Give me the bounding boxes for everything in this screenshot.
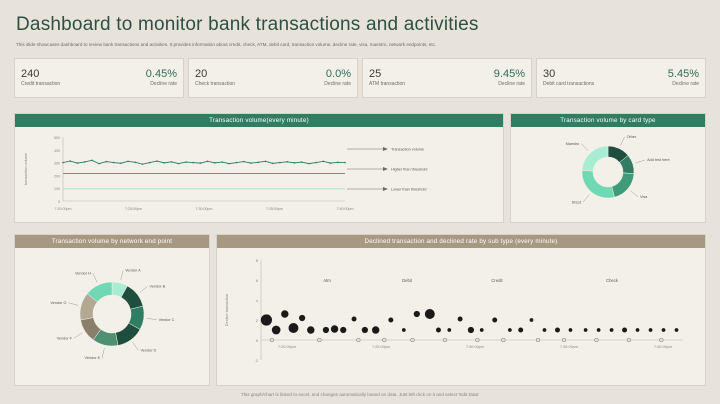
- footer-note: This graph/chart is linked to excel, and…: [0, 392, 720, 397]
- y-tick-label: 0: [256, 339, 258, 343]
- scatter-point: [622, 328, 627, 333]
- kpi-atm-value: 25: [369, 68, 453, 81]
- data-point: [207, 161, 209, 163]
- y-tick-label: 200: [54, 174, 60, 178]
- panel-card-type-title: Transaction volume by card type: [511, 114, 705, 127]
- scatter-point: [340, 327, 346, 333]
- legend-label: Higher than threshold: [391, 168, 427, 172]
- donut-leader-line: [581, 144, 588, 151]
- data-point: [178, 163, 180, 165]
- kpi-credit-pct: 0.45%: [105, 68, 177, 81]
- data-point: [120, 162, 122, 164]
- data-point: [301, 161, 303, 163]
- data-point: [272, 163, 274, 165]
- donut-leader-line: [74, 333, 82, 338]
- x-tick-label: 7:30:00pm: [466, 345, 484, 349]
- scatter-point: [584, 328, 588, 332]
- data-point: [214, 162, 216, 164]
- data-point: [243, 161, 245, 163]
- data-point: [62, 162, 64, 164]
- data-point: [135, 162, 137, 164]
- scatter-point: [468, 327, 474, 333]
- panel-volume-by-network-end-point: Transaction volume by network end point …: [14, 234, 210, 386]
- data-point: [149, 162, 151, 164]
- donut-slice[interactable]: [582, 146, 608, 171]
- scatter-point: [543, 328, 547, 332]
- y-axis-title: Decline transaction: [225, 294, 229, 326]
- declined-transactions-scatter-chart: 86420-2Decline transaction7:20:00pm7:25:…: [217, 248, 705, 385]
- kpi-debit-left: 30 Debit card transactions: [543, 68, 627, 88]
- panel-declined-title: Declined transaction and declined rate b…: [217, 235, 705, 248]
- data-point: [294, 162, 296, 164]
- scatter-point: [299, 315, 305, 321]
- kpi-card-atm[interactable]: 25 ATM transaction 9.45% Decline rate: [362, 58, 532, 98]
- scatter-point: [649, 328, 653, 332]
- donut-leader-line: [583, 194, 589, 202]
- kpi-atm-pct-label: Decline rate: [453, 81, 525, 88]
- scatter-point: [675, 328, 679, 332]
- donut-leader-line: [68, 303, 78, 305]
- y-tick-label: 8: [256, 259, 258, 263]
- data-point: [84, 161, 86, 163]
- panel-volume-by-card-type: Transaction volume by card type OtherAdd…: [510, 113, 706, 223]
- kpi-credit-label: Credit transaction: [21, 81, 105, 88]
- kpi-card-debit[interactable]: 30 Debit card transactions 5.45% Decline…: [536, 58, 706, 98]
- kpi-debit-pct-label: Decline rate: [627, 81, 699, 88]
- donut-leader-line: [620, 137, 624, 146]
- kpi-credit-right: 0.45% Decline rate: [105, 68, 177, 88]
- y-tick-label: 4: [256, 299, 258, 303]
- kpi-check-pct: 0.0%: [279, 68, 351, 81]
- donut-slice[interactable]: [582, 170, 614, 198]
- donut-label: Vendor C: [159, 318, 175, 322]
- data-point: [142, 163, 144, 165]
- kpi-atm-left: 25 ATM transaction: [369, 68, 453, 88]
- network-endpoint-donut-chart: Vendor AVendor BVendor CVendor DVendor E…: [15, 248, 209, 385]
- donut-label: Vendor A: [125, 269, 141, 273]
- donut-label: Vendor D: [140, 349, 156, 353]
- data-point: [91, 159, 93, 161]
- kpi-atm-label: ATM transaction: [369, 81, 453, 88]
- card-type-donut-chart: OtherAdd test hereVisaDiscdMaestro: [511, 127, 705, 222]
- donut-label: Vendor B: [150, 285, 166, 289]
- x-tick-label: 7:35:00pm: [266, 207, 283, 211]
- kpi-debit-value: 30: [543, 68, 627, 81]
- kpi-credit-pct-label: Decline rate: [105, 81, 177, 88]
- data-point: [200, 162, 202, 164]
- data-point: [257, 162, 259, 164]
- scatter-point: [480, 328, 484, 332]
- legend-arrow-icon: [383, 167, 388, 171]
- y-tick-label: 0: [58, 200, 60, 204]
- scatter-point: [372, 326, 379, 333]
- legend-arrow-icon: [383, 187, 388, 191]
- y-tick-label: 400: [54, 149, 60, 153]
- annotation-label: Atm: [323, 278, 331, 283]
- kpi-debit-pct: 5.45%: [627, 68, 699, 81]
- annotation-label: Debit: [402, 278, 413, 283]
- scatter-point: [447, 328, 451, 332]
- data-point: [185, 161, 187, 163]
- x-tick-label: 7:40:00pm: [654, 345, 672, 349]
- donut-leader-line: [140, 286, 148, 292]
- data-point: [279, 162, 281, 164]
- data-point: [344, 162, 346, 164]
- donut-label: Vendor F: [57, 336, 73, 340]
- panel-transaction-volume-title: Transaction volume(every minute): [15, 114, 503, 127]
- x-tick-label: 7:25:00pm: [372, 345, 390, 349]
- scatter-point: [323, 327, 329, 333]
- panel-transaction-volume: Transaction volume(every minute) 5004003…: [14, 113, 504, 223]
- y-tick-label: 300: [54, 162, 60, 166]
- scatter-point: [307, 326, 314, 333]
- donut-leader-line: [121, 270, 123, 280]
- data-point: [192, 162, 194, 164]
- x-tick-label: 7:20:00pm: [55, 207, 72, 211]
- scatter-point: [569, 328, 573, 332]
- scatter-point: [636, 328, 640, 332]
- kpi-card-check[interactable]: 20 Check transaction 0.0% Decline rate: [188, 58, 358, 98]
- page-subtitle: This slide showcases dashboard to review…: [16, 42, 676, 48]
- annotation-label: Check: [606, 278, 619, 283]
- line-series-0: [63, 160, 345, 164]
- donut-leader-line: [102, 348, 104, 358]
- donut-label: Vendor G: [50, 301, 66, 305]
- y-tick-label: 100: [54, 187, 60, 191]
- data-point: [337, 162, 339, 164]
- y-tick-label: 2: [256, 319, 258, 323]
- data-point: [250, 162, 252, 164]
- scatter-point: [272, 326, 281, 335]
- donut-leader-line: [93, 273, 97, 282]
- scatter-point: [610, 328, 614, 332]
- donut-leader-line: [636, 160, 646, 163]
- scatter-point: [425, 309, 435, 319]
- scatter-point: [555, 328, 560, 333]
- donut-leader-line: [147, 318, 157, 319]
- kpi-atm-right: 9.45% Decline rate: [453, 68, 525, 88]
- data-point: [106, 161, 108, 163]
- scatter-point: [261, 314, 272, 325]
- x-tick-label: 7:40:00pm: [337, 207, 354, 211]
- y-tick-label: 6: [256, 279, 258, 283]
- kpi-check-value: 20: [195, 68, 279, 81]
- scatter-point: [388, 318, 393, 323]
- data-point: [221, 161, 223, 163]
- scatter-point: [518, 328, 523, 333]
- scatter-point: [597, 328, 601, 332]
- legend-label: Lower than threshold: [391, 188, 426, 192]
- kpi-check-right: 0.0% Decline rate: [279, 68, 351, 88]
- y-tick-label: -2: [255, 359, 258, 363]
- kpi-debit-right: 5.45% Decline rate: [627, 68, 699, 88]
- scatter-point: [436, 328, 441, 333]
- kpi-card-credit[interactable]: 240 Credit transaction 0.45% Decline rat…: [14, 58, 184, 98]
- data-point: [330, 162, 332, 164]
- page-title: Dashboard to monitor bank transactions a…: [16, 14, 479, 36]
- data-point: [156, 160, 158, 162]
- data-point: [265, 161, 267, 163]
- data-point: [171, 161, 173, 163]
- legend-arrow-icon: [383, 147, 388, 151]
- scatter-point: [402, 328, 406, 332]
- scatter-point: [508, 328, 512, 332]
- x-tick-label: 7:20:00pm: [278, 345, 296, 349]
- data-point: [127, 161, 129, 163]
- scatter-point: [352, 317, 357, 322]
- kpi-credit-left: 240 Credit transaction: [21, 68, 105, 88]
- kpi-check-left: 20 Check transaction: [195, 68, 279, 88]
- scatter-point: [281, 310, 288, 317]
- kpi-atm-pct: 9.45%: [453, 68, 525, 81]
- data-point: [236, 162, 238, 164]
- x-tick-label: 7:25:00pm: [125, 207, 142, 211]
- donut-label: Add test here: [647, 158, 670, 162]
- data-point: [77, 162, 79, 164]
- scatter-point: [331, 325, 338, 332]
- donut-label: Other: [627, 135, 637, 139]
- donut-label: Discd: [572, 200, 582, 204]
- donut-label: Vendor E: [85, 356, 101, 360]
- data-point: [323, 161, 325, 163]
- data-point: [229, 163, 231, 165]
- panel-declined-transactions: Declined transaction and declined rate b…: [216, 234, 706, 386]
- data-point: [69, 160, 71, 162]
- dashboard-page: Dashboard to monitor bank transactions a…: [0, 0, 720, 404]
- scatter-point: [530, 318, 534, 322]
- kpi-credit-value: 240: [21, 68, 105, 81]
- kpi-check-label: Check transaction: [195, 81, 279, 88]
- kpi-debit-label: Debit card transactions: [543, 81, 627, 88]
- donut-slice[interactable]: [612, 173, 634, 197]
- data-point: [163, 162, 165, 164]
- scatter-point: [414, 311, 420, 317]
- donut-label: Maestro: [566, 142, 580, 146]
- scatter-point: [289, 323, 299, 333]
- data-point: [308, 163, 310, 165]
- data-point: [113, 162, 115, 164]
- donut-leader-line: [133, 342, 139, 350]
- data-point: [98, 163, 100, 165]
- panel-endpoint-title: Transaction volume by network end point: [15, 235, 209, 248]
- legend-label: Transaction volume: [391, 148, 424, 152]
- annotation-label: Credit: [491, 278, 503, 283]
- scatter-point: [362, 327, 368, 333]
- donut-label: Vendor H: [75, 272, 91, 276]
- transaction-volume-chart: 5004003002001000transaction volume7:20:0…: [15, 127, 503, 222]
- y-axis-title: transaction volume: [24, 153, 28, 185]
- donut-label: Visa: [640, 195, 648, 199]
- data-point: [286, 161, 288, 163]
- data-point: [315, 162, 317, 164]
- x-tick-label: 7:35:00pm: [560, 345, 578, 349]
- x-tick-label: 7:30:00pm: [196, 207, 213, 211]
- scatter-point: [458, 317, 463, 322]
- kpi-check-pct-label: Decline rate: [279, 81, 351, 88]
- y-tick-label: 500: [54, 136, 60, 140]
- scatter-point: [662, 328, 666, 332]
- kpi-strip: 240 Credit transaction 0.45% Decline rat…: [14, 58, 706, 98]
- donut-leader-line: [630, 190, 638, 196]
- scatter-point: [492, 318, 497, 323]
